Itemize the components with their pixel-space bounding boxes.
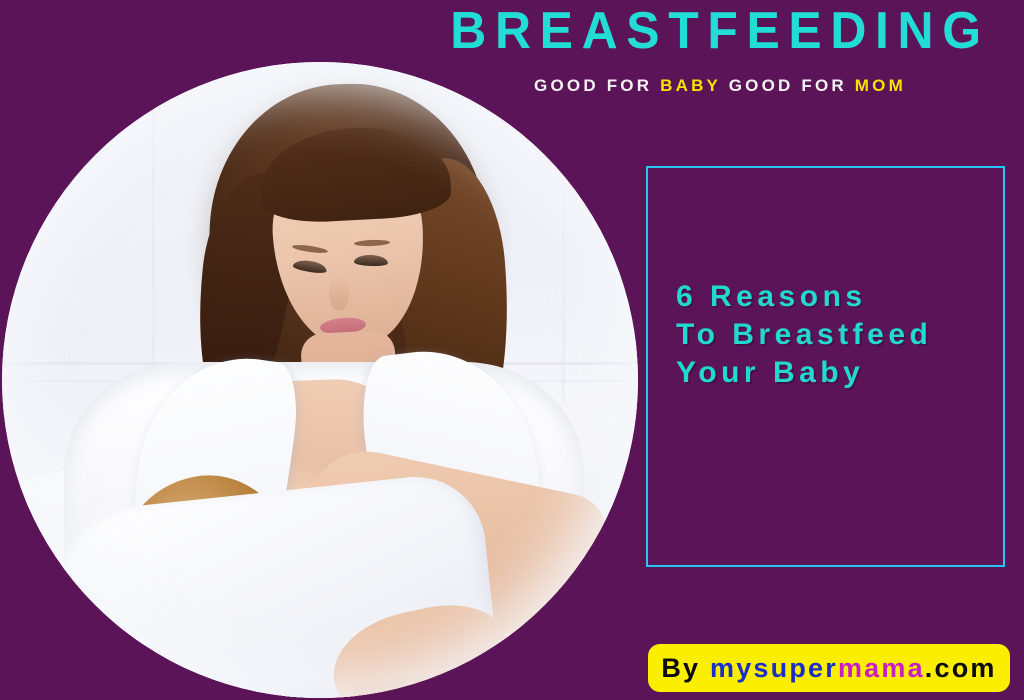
subtitle-highlight-mom: MOM (855, 76, 906, 95)
page-subtitle: GOOD FOR BABY GOOD FOR MOM (424, 76, 1016, 96)
page-title: BREASTFEEDING (436, 2, 1004, 60)
brand-name-part-2: mama (838, 653, 925, 683)
callout-line-3: Your Baby (676, 354, 1006, 392)
attribution-text: By mysupermama.com (661, 655, 996, 682)
wall-panel-line (152, 62, 155, 392)
callout-line-2: To Breastfeed (676, 316, 1006, 354)
subtitle-highlight-baby: BABY (660, 76, 721, 95)
callout-line-1: 6 Reasons (676, 278, 1006, 316)
attribution-badge[interactable]: By mysupermama.com (648, 644, 1010, 692)
brand-name-tld: .com (925, 653, 997, 683)
mother-nose (329, 277, 349, 311)
callout-heading: 6 Reasons To Breastfeed Your Baby (676, 278, 1006, 392)
subtitle-part-2: GOOD FOR (721, 76, 855, 95)
photo-background (2, 62, 638, 698)
brand-name-part-1: mysuper (710, 653, 838, 683)
subtitle-part-1: GOOD FOR (534, 76, 660, 95)
attribution-by-label: By (661, 653, 710, 683)
mother-and-baby-photo (2, 62, 638, 698)
poster-canvas: BREASTFEEDING GOOD FOR BABY GOOD FOR MOM… (0, 0, 1024, 700)
wall-panel-line (562, 62, 565, 402)
